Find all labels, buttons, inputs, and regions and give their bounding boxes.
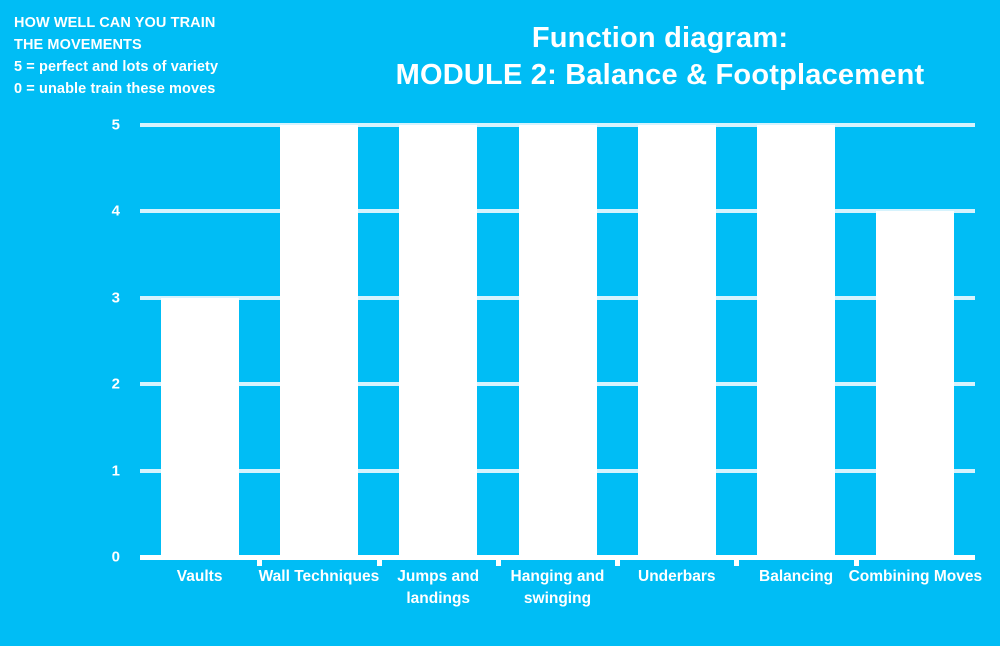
bar-underbars[interactable] (638, 125, 716, 557)
bar-balancing[interactable] (757, 125, 835, 557)
x-tick-1 (257, 557, 262, 566)
axis-baseline (140, 555, 975, 560)
x-tick-5 (734, 557, 739, 566)
bar-combining-moves[interactable] (876, 211, 954, 557)
y-tick-label-1: 1 (10, 462, 120, 479)
x-tick-4 (615, 557, 620, 566)
y-tick-label-2: 2 (10, 376, 120, 393)
x-tick-6 (854, 557, 859, 566)
x-axis-labels: VaultsWall TechniquesJumps and landingsH… (140, 566, 975, 636)
x-tick-3 (496, 557, 501, 566)
y-axis-labels: 012345 (0, 0, 140, 646)
y-tick-label-0: 0 (10, 549, 120, 566)
bar-jumps-and-landings[interactable] (399, 125, 477, 557)
x-tick-2 (377, 557, 382, 566)
bar-vaults[interactable] (161, 298, 239, 557)
y-tick-label-3: 3 (10, 289, 120, 306)
plot-area (140, 125, 975, 557)
bar-hanging-and-swinging[interactable] (519, 125, 597, 557)
bar-wall-techniques[interactable] (280, 125, 358, 557)
x-axis-label-combining-moves: Combining Moves (844, 566, 987, 588)
y-tick-label-4: 4 (10, 203, 120, 220)
chart-plot-wrapper: 012345 VaultsWall TechniquesJumps and la… (0, 0, 1000, 646)
y-tick-label-5: 5 (10, 117, 120, 134)
